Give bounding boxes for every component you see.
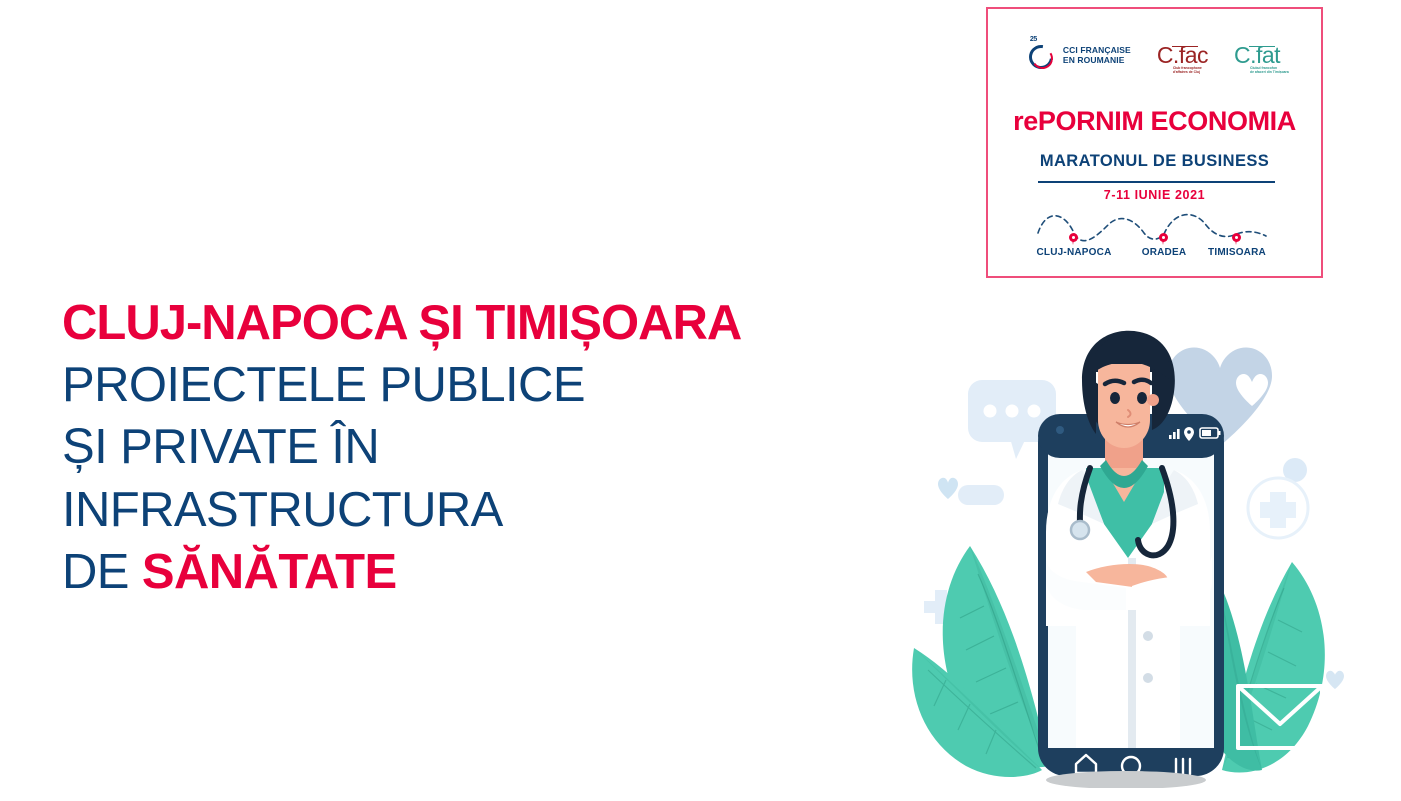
headline-line-3: ȘI PRIVATE ÎN <box>62 416 942 478</box>
stethoscope-chestpiece <box>1071 521 1089 539</box>
route-map <box>1016 207 1297 252</box>
headline-line-1: CLUJ-NAPOCA ȘI TIMIȘOARA <box>62 292 942 354</box>
cfat-subtitle-line2: de afaceri din Timișoara <box>1250 70 1289 74</box>
route-dashed-path-icon <box>1016 207 1297 252</box>
headline-line-5: DE SĂNĂTATE <box>62 541 942 603</box>
headline-line-2: PROIECTELE PUBLICE <box>62 354 942 416</box>
cfac-subtitle-line2: d'affaires de Cluj <box>1173 70 1202 74</box>
pin-tip <box>1235 239 1237 245</box>
cfac-logo-subtitle: Club francophone d'affaires de Cluj <box>1173 66 1202 75</box>
pin-tip <box>1072 239 1074 245</box>
cfat-logo-subtitle: Clubul francofon de afaceri din Timișoar… <box>1250 66 1289 75</box>
page-title: CLUJ-NAPOCA ȘI TIMIȘOARA PROIECTELE PUBL… <box>62 292 942 603</box>
cfac-logo: C.fac Club francophone d'affaires de Clu… <box>1157 44 1208 67</box>
map-pin-timisoara <box>1232 233 1241 246</box>
city-labels: CLUJ-NAPOCA ORADEA TIMISOARA <box>988 247 1321 263</box>
small-bubble-decoration <box>958 485 1004 505</box>
pin-dot <box>1072 236 1075 239</box>
logo-row: 25 CCI FRANÇAISE EN ROUMANIE C.fac Club … <box>988 31 1321 79</box>
event-card: 25 CCI FRANÇAISE EN ROUMANIE C.fac Club … <box>986 7 1323 278</box>
headline-line-5-prefix: DE <box>62 545 142 599</box>
small-heart-decoration-2 <box>1326 671 1344 689</box>
small-heart-decoration <box>938 478 958 499</box>
pin-tip <box>1162 239 1164 245</box>
cfac-logo-bar <box>1172 46 1198 48</box>
event-title-prefix: re <box>1013 106 1038 136</box>
pin-dot <box>1162 236 1165 239</box>
cci-logo-line2: EN ROUMANIE <box>1063 55 1131 65</box>
event-title-main: PORNIM ECONOMIA <box>1038 106 1296 136</box>
cfat-logo: C.fat Clubul francofon de afaceri din Ti… <box>1234 44 1280 67</box>
map-pin-oradea <box>1159 233 1168 246</box>
slide-root: 25 CCI FRANÇAISE EN ROUMANIE C.fac Club … <box>0 0 1401 801</box>
pin-dot <box>1235 236 1238 239</box>
telemedicine-doctor-illustration <box>900 318 1362 788</box>
event-subtitle: MARATONUL DE BUSINESS <box>988 152 1321 171</box>
headline-line-5-emphasis: SĂNĂTATE <box>142 545 397 599</box>
cci-logo-text: CCI FRANÇAISE EN ROUMANIE <box>1063 45 1131 65</box>
coat-button <box>1143 673 1153 683</box>
cci-france-roumanie-logo: 25 CCI FRANÇAISE EN ROUMANIE <box>1029 40 1131 70</box>
cfat-logo-bar <box>1249 46 1275 48</box>
cci-anniversary-badge-icon: 25 <box>1029 40 1059 70</box>
cci-badge-number: 25 <box>1030 36 1037 43</box>
medical-cross-circle-icon <box>1248 478 1308 538</box>
green-leaves-left <box>912 546 1050 777</box>
map-pin-cluj-napoca <box>1069 233 1078 246</box>
coat-button <box>1143 631 1153 641</box>
city-label-oradea: ORADEA <box>1142 247 1187 258</box>
event-title: rePORNIM ECONOMIA <box>988 106 1321 137</box>
city-label-timisoara: TIMISOARA <box>1208 247 1266 258</box>
event-divider <box>1038 181 1275 183</box>
headline-line-4: INFRASTRUCTURA <box>62 479 942 541</box>
event-date: 7-11 IUNIE 2021 <box>988 188 1321 202</box>
city-label-cluj-napoca: CLUJ-NAPOCA <box>1037 247 1112 258</box>
cci-logo-line1: CCI FRANÇAISE <box>1063 45 1131 55</box>
